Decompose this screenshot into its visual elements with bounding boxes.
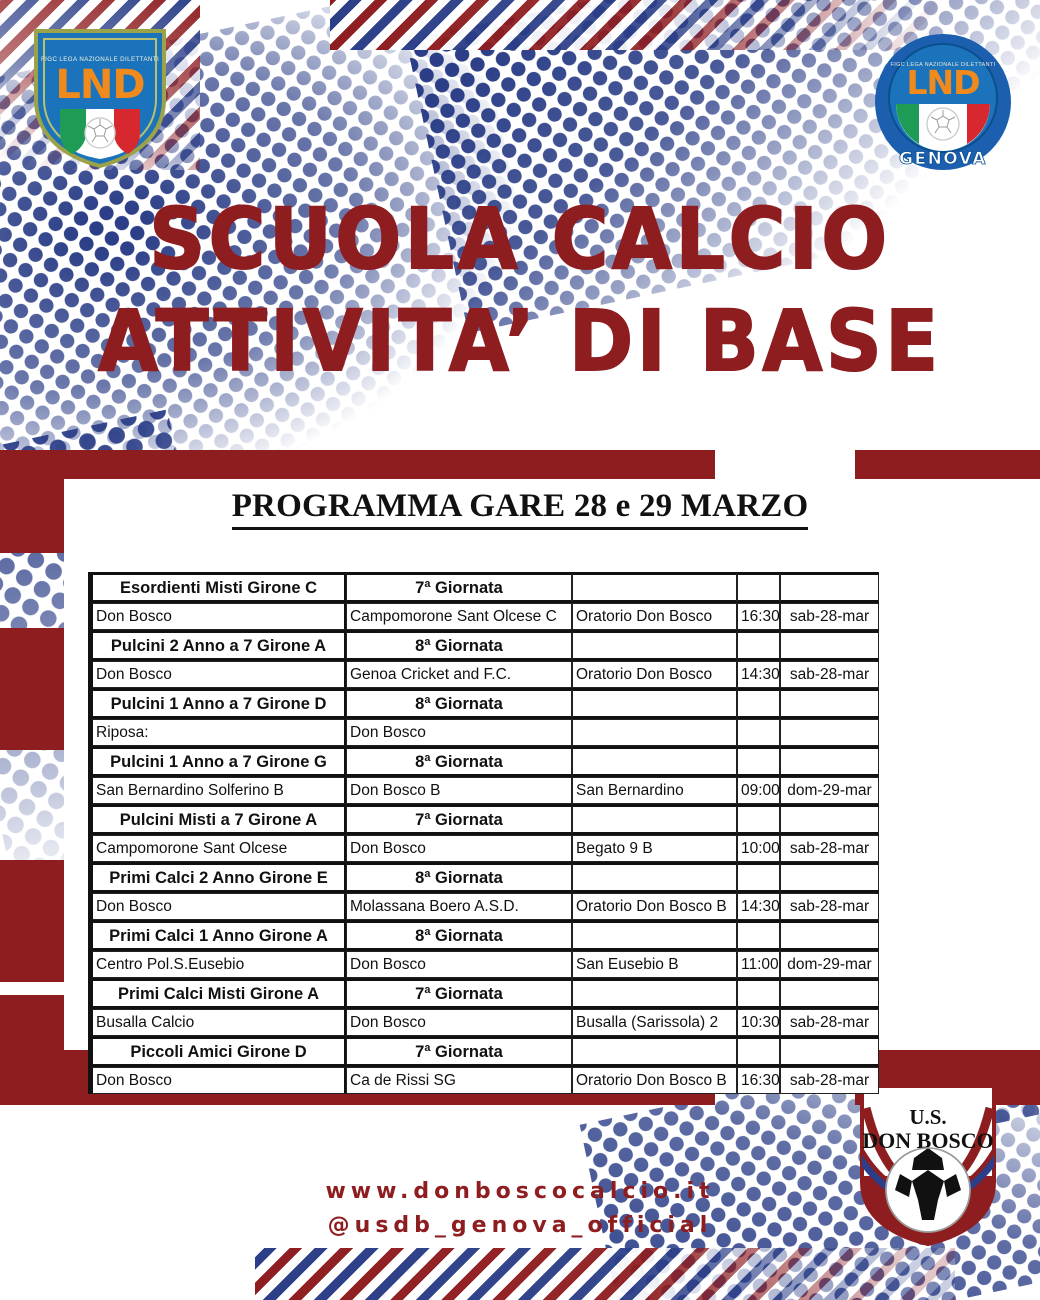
frame-block-left-2	[0, 628, 68, 750]
home-team: Don Bosco	[91, 893, 346, 920]
venue: San Bernardino	[572, 777, 737, 804]
kickoff-time: 16:30	[737, 603, 780, 630]
footer-instagram[interactable]: @usdb_genova_official	[0, 1209, 1040, 1243]
time-cell	[737, 688, 780, 719]
lnd-shield-logo: FIGC LEGA NAZIONALE DILETTANTI LND	[30, 25, 170, 170]
matchday-label: 7ª Giornata	[346, 804, 572, 835]
venue: Busalla (Sarissola) 2	[572, 1009, 737, 1036]
date-cell	[780, 862, 879, 893]
schedule-category-row: Pulcini Misti a 7 Girone A7ª Giornata	[91, 804, 879, 835]
date-cell	[780, 630, 879, 661]
venue: Begato 9 B	[572, 835, 737, 862]
date-cell	[780, 1036, 879, 1067]
venue: Oratorio Don Bosco B	[572, 893, 737, 920]
date-cell	[780, 804, 879, 835]
kickoff-time	[737, 719, 780, 746]
frame-block-left-3	[0, 860, 68, 982]
match-date: sab-28-mar	[780, 603, 879, 630]
schedule-container: Esordienti Misti Girone C7ª GiornataDon …	[88, 572, 876, 1094]
home-team: Busalla Calcio	[91, 1009, 346, 1036]
page-title: SCUOLA CALCIO ATTIVITA’ DI BASE	[42, 188, 999, 393]
venue-cell	[572, 920, 737, 951]
away-team: Ca de Rissi SG	[346, 1067, 572, 1094]
category-label: Pulcini Misti a 7 Girone A	[91, 804, 346, 835]
venue: Oratorio Don Bosco	[572, 661, 737, 688]
schedule-category-row: Esordienti Misti Girone C7ª Giornata	[91, 572, 879, 603]
venue-cell	[572, 630, 737, 661]
home-team: Riposa:	[91, 719, 346, 746]
category-label: Esordienti Misti Girone C	[91, 572, 346, 603]
away-team: Don Bosco	[346, 951, 572, 978]
schedule-category-row: Primi Calci 2 Anno Girone E8ª Giornata	[91, 862, 879, 893]
time-cell	[737, 804, 780, 835]
kickoff-time: 14:30	[737, 893, 780, 920]
category-label: Primi Calci 1 Anno Girone A	[91, 920, 346, 951]
matchday-label: 8ª Giornata	[346, 862, 572, 893]
time-cell	[737, 920, 780, 951]
schedule-match-row: Don BoscoCa de Rissi SGOratorio Don Bosc…	[91, 1067, 879, 1094]
category-label: Primi Calci Misti Girone A	[91, 978, 346, 1009]
match-date: dom-29-mar	[780, 951, 879, 978]
schedule-match-row: Centro Pol.S.EusebioDon BoscoSan Eusebio…	[91, 951, 879, 978]
away-team: Don Bosco	[346, 835, 572, 862]
venue: Oratorio Don Bosco	[572, 603, 737, 630]
match-date: sab-28-mar	[780, 1067, 879, 1094]
schedule-category-row: Piccoli Amici Girone D7ª Giornata	[91, 1036, 879, 1067]
category-label: Pulcini 1 Anno a 7 Girone G	[91, 746, 346, 777]
poster-canvas: FIGC LEGA NAZIONALE DILETTANTI LND FIGC …	[0, 0, 1040, 1300]
kickoff-time: 14:30	[737, 661, 780, 688]
schedule-match-row: Riposa:Don Bosco	[91, 719, 879, 746]
kickoff-time: 10:30	[737, 1009, 780, 1036]
venue-cell	[572, 862, 737, 893]
home-team: Don Bosco	[91, 603, 346, 630]
category-label: Pulcini 2 Anno a 7 Girone A	[91, 630, 346, 661]
svg-text:U.S.: U.S.	[909, 1105, 946, 1129]
footer-website[interactable]: www.donboscocalcio.it	[0, 1175, 1040, 1209]
time-cell	[737, 978, 780, 1009]
kickoff-time: 11:00	[737, 951, 780, 978]
venue: Oratorio Don Bosco B	[572, 1067, 737, 1094]
away-team: Don Bosco B	[346, 777, 572, 804]
venue-cell	[572, 804, 737, 835]
home-team: Centro Pol.S.Eusebio	[91, 951, 346, 978]
category-label: Piccoli Amici Girone D	[91, 1036, 346, 1067]
matchday-label: 7ª Giornata	[346, 978, 572, 1009]
category-label: Primi Calci 2 Anno Girone E	[91, 862, 346, 893]
matchday-label: 8ª Giornata	[346, 688, 572, 719]
schedule-category-row: Primi Calci 1 Anno Girone A8ª Giornata	[91, 920, 879, 951]
venue-cell	[572, 746, 737, 777]
svg-text:GENOVA: GENOVA	[899, 149, 987, 169]
svg-text:LND: LND	[55, 62, 144, 108]
venue-cell	[572, 978, 737, 1009]
schedule-match-row: Busalla CalcioDon BoscoBusalla (Sarissol…	[91, 1009, 879, 1036]
schedule-category-row: Pulcini 1 Anno a 7 Girone G8ª Giornata	[91, 746, 879, 777]
match-date	[780, 719, 879, 746]
svg-text:LND: LND	[906, 63, 979, 102]
matchday-label: 8ª Giornata	[346, 746, 572, 777]
match-date: dom-29-mar	[780, 777, 879, 804]
diagonal-stripes-bottom	[255, 1248, 955, 1300]
venue: San Eusebio B	[572, 951, 737, 978]
schedule-category-row: Primi Calci Misti Girone A7ª Giornata	[91, 978, 879, 1009]
venue	[572, 719, 737, 746]
away-team: Genoa Cricket and F.C.	[346, 661, 572, 688]
date-cell	[780, 572, 879, 603]
matchday-label: 7ª Giornata	[346, 1036, 572, 1067]
matchday-label: 7ª Giornata	[346, 572, 572, 603]
date-cell	[780, 688, 879, 719]
venue-cell	[572, 572, 737, 603]
schedule-match-row: Campomorone Sant OlceseDon BoscoBegato 9…	[91, 835, 879, 862]
frame-block-left-4	[0, 995, 68, 1055]
venue-cell	[572, 688, 737, 719]
time-cell	[737, 746, 780, 777]
date-cell	[780, 920, 879, 951]
match-date: sab-28-mar	[780, 835, 879, 862]
matchday-label: 8ª Giornata	[346, 630, 572, 661]
away-team: Don Bosco	[346, 1009, 572, 1036]
date-cell	[780, 746, 879, 777]
matchday-label: 8ª Giornata	[346, 920, 572, 951]
home-team: San Bernardino Solferino B	[91, 777, 346, 804]
date-cell	[780, 978, 879, 1009]
home-team: Don Bosco	[91, 661, 346, 688]
kickoff-time: 09:00	[737, 777, 780, 804]
schedule-match-row: Don BoscoMolassana Boero A.S.D.Oratorio …	[91, 893, 879, 920]
lnd-genova-badge: FIGC LEGA NAZIONALE DILETTANTI LND GENOV…	[872, 28, 1014, 176]
home-team: Campomorone Sant Olcese	[91, 835, 346, 862]
away-team: Campomorone Sant Olcese C	[346, 603, 572, 630]
subtitle-text: PROGRAMMA GARE 28 e 29 MARZO	[232, 488, 809, 530]
match-date: sab-28-mar	[780, 661, 879, 688]
schedule-table: Esordienti Misti Girone C7ª GiornataDon …	[88, 572, 879, 1094]
schedule-category-row: Pulcini 1 Anno a 7 Girone D8ª Giornata	[91, 688, 879, 719]
schedule-match-row: San Bernardino Solferino BDon Bosco BSan…	[91, 777, 879, 804]
category-label: Pulcini 1 Anno a 7 Girone D	[91, 688, 346, 719]
match-date: sab-28-mar	[780, 893, 879, 920]
time-cell	[737, 1036, 780, 1067]
match-date: sab-28-mar	[780, 1009, 879, 1036]
home-team: Don Bosco	[91, 1067, 346, 1094]
away-team: Don Bosco	[346, 719, 572, 746]
footer-contact: www.donboscocalcio.it @usdb_genova_offic…	[0, 1175, 1040, 1243]
time-cell	[737, 572, 780, 603]
time-cell	[737, 630, 780, 661]
kickoff-time: 10:00	[737, 835, 780, 862]
schedule-match-row: Don BoscoGenoa Cricket and F.C.Oratorio …	[91, 661, 879, 688]
schedule-match-row: Don BoscoCampomorone Sant Olcese COrator…	[91, 603, 879, 630]
schedule-body: Esordienti Misti Girone C7ª GiornataDon …	[91, 572, 879, 1094]
venue-cell	[572, 1036, 737, 1067]
subtitle: PROGRAMMA GARE 28 e 29 MARZO	[0, 488, 1040, 530]
kickoff-time: 16:30	[737, 1067, 780, 1094]
time-cell	[737, 862, 780, 893]
away-team: Molassana Boero A.S.D.	[346, 893, 572, 920]
schedule-category-row: Pulcini 2 Anno a 7 Girone A8ª Giornata	[91, 630, 879, 661]
